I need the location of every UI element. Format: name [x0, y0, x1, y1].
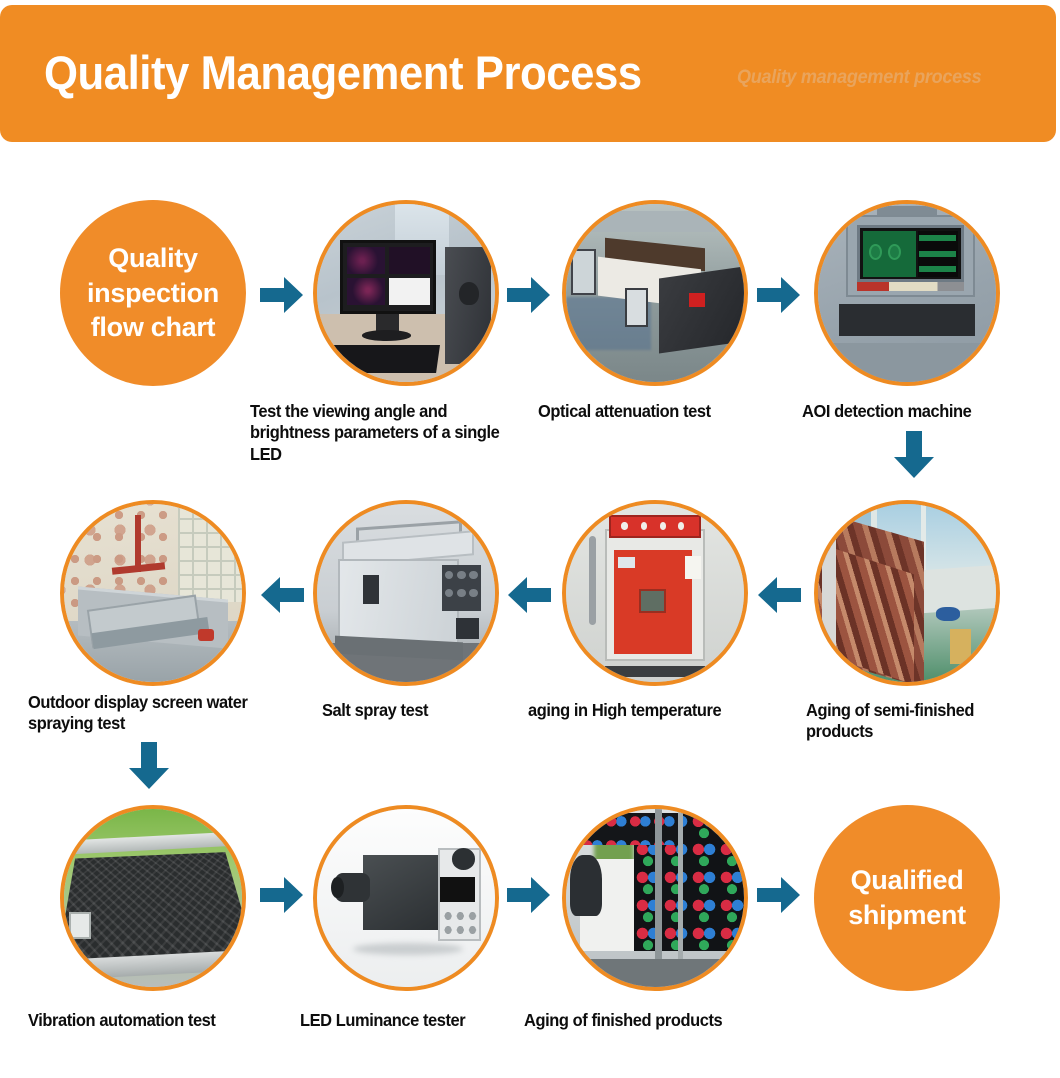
high-temperature-oven-photo[interactable] [562, 500, 748, 686]
led-wall-aging-photo[interactable] [562, 805, 748, 991]
header-banner: Quality Management Process Quality manag… [0, 5, 1056, 142]
arrow-left-icon [260, 576, 304, 614]
caption-optical-attenuation-test: Optical attenuation test [538, 401, 773, 422]
arrow-right-icon [260, 876, 304, 914]
photo-art [64, 809, 242, 987]
arrow-right-icon [757, 276, 801, 314]
page-subtitle: Quality management process [737, 67, 981, 89]
photo-art [818, 204, 996, 382]
photo-art [566, 204, 744, 382]
arrow-right-icon [757, 876, 801, 914]
computer-workstation-photo[interactable] [313, 200, 499, 386]
arrow-left-icon [757, 576, 801, 614]
arrow-down-icon [893, 431, 935, 479]
aoi-machine-photo[interactable] [814, 200, 1000, 386]
water-spray-photo[interactable] [60, 500, 246, 686]
caption-water-spraying-test: Outdoor display screen water spraying te… [28, 692, 265, 735]
caption-finished-products-aging: Aging of finished products [524, 1010, 770, 1031]
caption-aoi-detection-machine: AOI detection machine [802, 401, 1028, 422]
arrow-right-icon [507, 276, 551, 314]
photo-art [566, 504, 744, 682]
vibration-table-photo[interactable] [60, 805, 246, 991]
caption-high-temperature-aging: aging in High temperature [528, 700, 774, 721]
photo-art [317, 809, 495, 987]
arrow-left-icon [507, 576, 551, 614]
photo-art [317, 504, 495, 682]
arrow-right-icon [507, 876, 551, 914]
caption-vibration-automation-test: Vibration automation test [28, 1010, 272, 1031]
photo-art [317, 204, 495, 382]
caption-led-luminance-tester: LED Luminance tester [300, 1010, 507, 1031]
end-node[interactable]: Qualified shipment [814, 805, 1000, 991]
photo-art [566, 809, 744, 987]
arrow-right-icon [260, 276, 304, 314]
caption-semi-finished-aging: Aging of semi-finished products [806, 700, 1018, 743]
arrow-down-icon [128, 742, 170, 790]
photo-art [818, 504, 996, 682]
caption-salt-spray-test: Salt spray test [322, 700, 510, 721]
conveyor-machine-photo[interactable] [562, 200, 748, 386]
caption-viewing-angle-test: Test the viewing angle and brightness pa… [250, 401, 502, 465]
page-title: Quality Management Process [44, 49, 642, 96]
semi-finished-rack-photo[interactable] [814, 500, 1000, 686]
start-node[interactable]: Quality inspection flow chart [60, 200, 246, 386]
photo-art [64, 504, 242, 682]
start-node-label: Quality inspection flow chart [60, 241, 246, 345]
end-node-label: Qualified shipment [814, 863, 1000, 932]
luminance-meter-photo[interactable] [313, 805, 499, 991]
salt-spray-chamber-photo[interactable] [313, 500, 499, 686]
